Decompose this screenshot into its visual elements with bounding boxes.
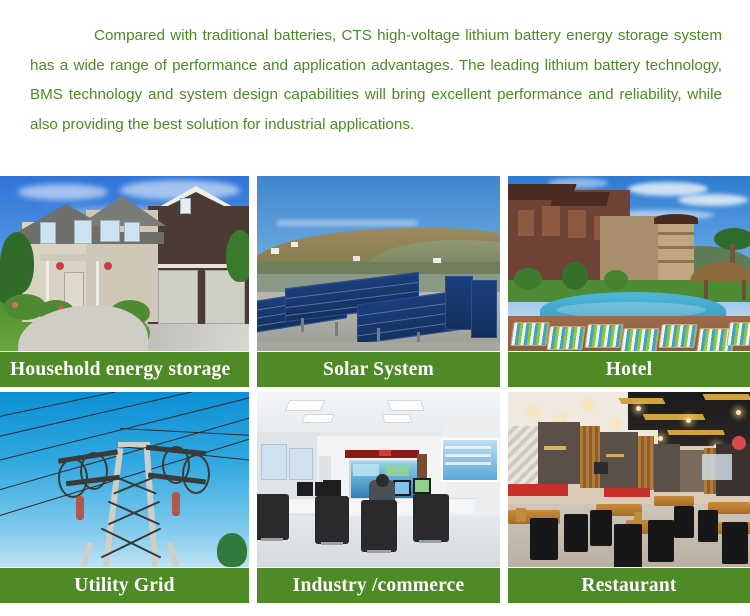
scenario-card-hotel[interactable]: Hotel: [508, 176, 750, 387]
solar-system-image: [257, 176, 500, 351]
scenario-gallery: Household energy storage: [0, 176, 750, 603]
caption-household-energy-storage: Household energy storage: [0, 352, 249, 387]
caption-restaurant: Restaurant: [508, 568, 750, 603]
application-scenarios-page: Compared with traditional batteries, CTS…: [0, 0, 750, 616]
caption-hotel: Hotel: [508, 352, 750, 387]
intro-paragraph: Compared with traditional batteries, CTS…: [30, 21, 722, 139]
scenario-card-household[interactable]: Household energy storage: [0, 176, 249, 387]
industry-commerce-image: [257, 392, 500, 567]
restaurant-image: [508, 392, 750, 567]
gallery-row: Household energy storage: [0, 176, 750, 387]
caption-industry-commerce: Industry /commerce: [257, 568, 500, 603]
caption-solar-system: Solar System: [257, 352, 500, 387]
scenario-card-industry-commerce[interactable]: Industry /commerce: [257, 392, 500, 603]
scenario-card-utility-grid[interactable]: Utility Grid: [0, 392, 249, 603]
caption-utility-grid: Utility Grid: [0, 568, 249, 603]
gallery-row: Utility Grid: [0, 392, 750, 603]
scenario-card-solar-system[interactable]: Solar System: [257, 176, 500, 387]
utility-grid-image: [0, 392, 249, 567]
household-energy-storage-image: [0, 176, 249, 351]
hotel-image: [508, 176, 750, 351]
scenario-card-restaurant[interactable]: Restaurant: [508, 392, 750, 603]
